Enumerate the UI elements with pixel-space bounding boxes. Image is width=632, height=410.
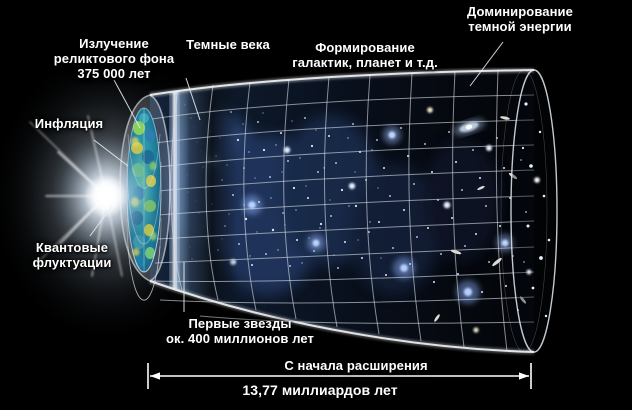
timeline-arrowhead-left [150,372,160,379]
timeline-arrow [148,363,531,389]
expansion-cone [150,60,557,360]
universe-illustration [0,0,632,410]
timeline-arrowhead-right [519,372,529,379]
cosmic-expansion-figure: Излучение реликтового фона 375 000 лет Т… [0,0,632,410]
